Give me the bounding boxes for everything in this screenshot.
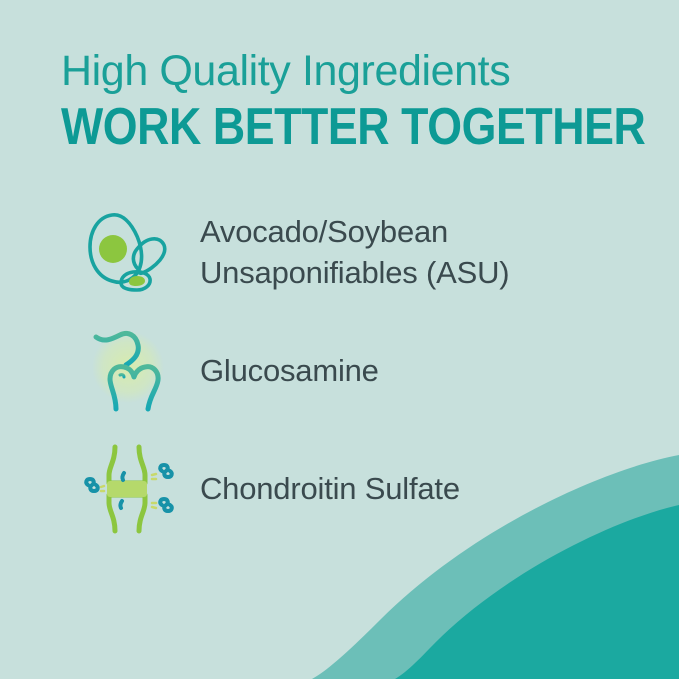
ingredient-label-line-1: Avocado/Soybean <box>200 212 509 253</box>
molecule-left <box>86 479 104 491</box>
molecule-right-lower <box>152 499 172 511</box>
upper-bone <box>109 447 145 483</box>
ingredient-label: Chondroitin Sulfate <box>186 469 460 510</box>
ingredients-infographic: High Quality Ingredients WORK BETTER TOG… <box>0 0 679 679</box>
list-item: Avocado/Soybean Unsaponifiables (ASU) <box>78 205 638 301</box>
avocado-soybean-icon <box>78 205 186 301</box>
molecule-squiggle-inner-top <box>122 473 124 480</box>
joint-cartilage-molecules-icon <box>78 441 186 537</box>
ingredient-label-line-1: Glucosamine <box>200 351 379 392</box>
ingredient-label: Avocado/Soybean Unsaponifiables (ASU) <box>186 212 509 294</box>
avocado-pit <box>99 235 127 263</box>
lower-bone <box>109 495 145 531</box>
heading-line-2: WORK BETTER TOGETHER <box>61 100 577 155</box>
heading-block: High Quality Ingredients WORK BETTER TOG… <box>61 48 661 155</box>
heading-line-1: High Quality Ingredients <box>61 48 661 94</box>
molecule-squiggle-inner-bottom <box>120 501 122 508</box>
cartilage-band <box>107 481 147 497</box>
ingredient-list: Avocado/Soybean Unsaponifiables (ASU) <box>78 205 638 537</box>
molecule-right-upper <box>152 465 172 479</box>
list-item: Glucosamine <box>78 323 638 419</box>
ingredient-label-line-1: Chondroitin Sulfate <box>200 469 460 510</box>
knee-joint-icon <box>78 323 186 419</box>
ingredient-label: Glucosamine <box>186 351 379 392</box>
list-item: Chondroitin Sulfate <box>78 441 638 537</box>
ingredient-label-line-2: Unsaponifiables (ASU) <box>200 253 509 294</box>
